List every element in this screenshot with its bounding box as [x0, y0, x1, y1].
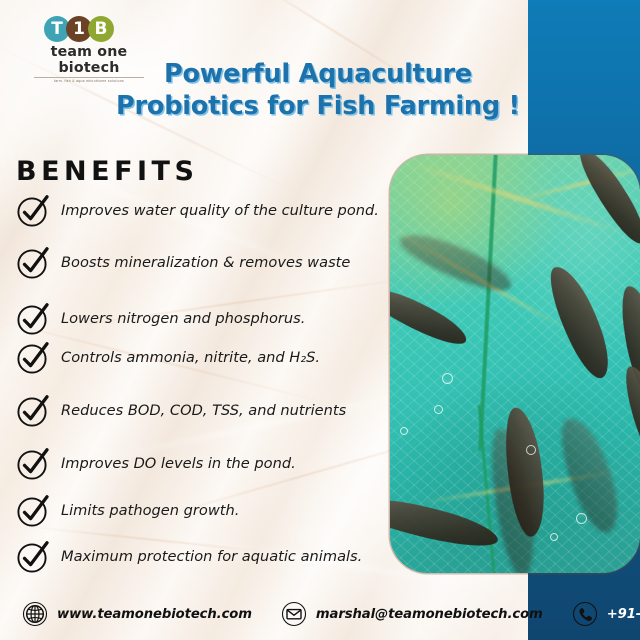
check-circle-icon — [16, 246, 50, 280]
benefit-item-label: Boosts mineralization & removes waste — [61, 255, 350, 271]
benefit-item: Limits pathogen growth. — [16, 494, 396, 528]
logo-bubble-b: B — [88, 16, 114, 42]
benefit-item: Controls ammonia, nitrite, and H₂S. — [16, 341, 396, 375]
footer-email[interactable]: marshal@teamonebiotech.com — [316, 607, 543, 622]
water-bubble-6 — [550, 533, 558, 541]
water-bubble-1 — [442, 373, 453, 384]
envelope-icon — [281, 601, 307, 627]
phone-icon — [572, 601, 598, 627]
logo-bubbles: T 1 B — [34, 16, 144, 42]
check-circle-icon — [16, 447, 50, 481]
benefit-item-label: Limits pathogen growth. — [61, 503, 239, 519]
benefit-item-label: Lowers nitrogen and phosphorus. — [61, 311, 305, 327]
check-circle-icon — [16, 341, 50, 375]
check-circle-icon — [16, 494, 50, 528]
benefit-item-label: Reduces BOD, COD, TSS, and nutrients — [61, 403, 346, 419]
headline-line-2: Probiotics for Fish Farming ! — [108, 90, 528, 122]
headline-line-1: Powerful Aquaculture — [108, 58, 528, 90]
footer-contact-bar: www.teamonebiotech.com marshal@teamonebi… — [0, 588, 640, 640]
water-bubble-3 — [400, 427, 408, 435]
benefit-item-label: Controls ammonia, nitrite, and H₂S. — [61, 350, 320, 366]
check-circle-icon — [16, 302, 50, 336]
benefits-list: Improves water quality of the culture po… — [16, 194, 396, 574]
headline: Powerful Aquaculture Probiotics for Fish… — [108, 58, 528, 122]
benefit-item-label: Improves DO levels in the pond. — [61, 456, 296, 472]
benefit-item: Improves water quality of the culture po… — [16, 194, 396, 228]
water-bubble-4 — [526, 445, 536, 455]
benefit-item-label: Maximum protection for aquatic animals. — [61, 549, 362, 565]
benefits-heading: BENEFITS — [16, 156, 198, 187]
check-circle-icon — [16, 194, 50, 228]
benefit-item: Lowers nitrogen and phosphorus. — [16, 302, 396, 336]
water-bubble-2 — [434, 405, 443, 414]
water-bubble-5 — [576, 513, 587, 524]
check-circle-icon — [16, 394, 50, 428]
poster-canvas: T 1 B team one biotech farm, fish & aqua… — [0, 0, 640, 640]
benefit-item: Reduces BOD, COD, TSS, and nutrients — [16, 394, 396, 428]
footer-phone[interactable]: +91-8485801707 — [607, 607, 640, 622]
benefit-item: Improves DO levels in the pond. — [16, 447, 396, 481]
globe-icon — [22, 601, 48, 627]
benefit-item-label: Improves water quality of the culture po… — [61, 203, 379, 219]
benefit-item: Maximum protection for aquatic animals. — [16, 540, 396, 574]
fish-pond-photo — [390, 155, 640, 573]
check-circle-icon — [16, 540, 50, 574]
footer-website[interactable]: www.teamonebiotech.com — [57, 607, 252, 622]
benefit-item: Boosts mineralization & removes waste — [16, 246, 396, 280]
